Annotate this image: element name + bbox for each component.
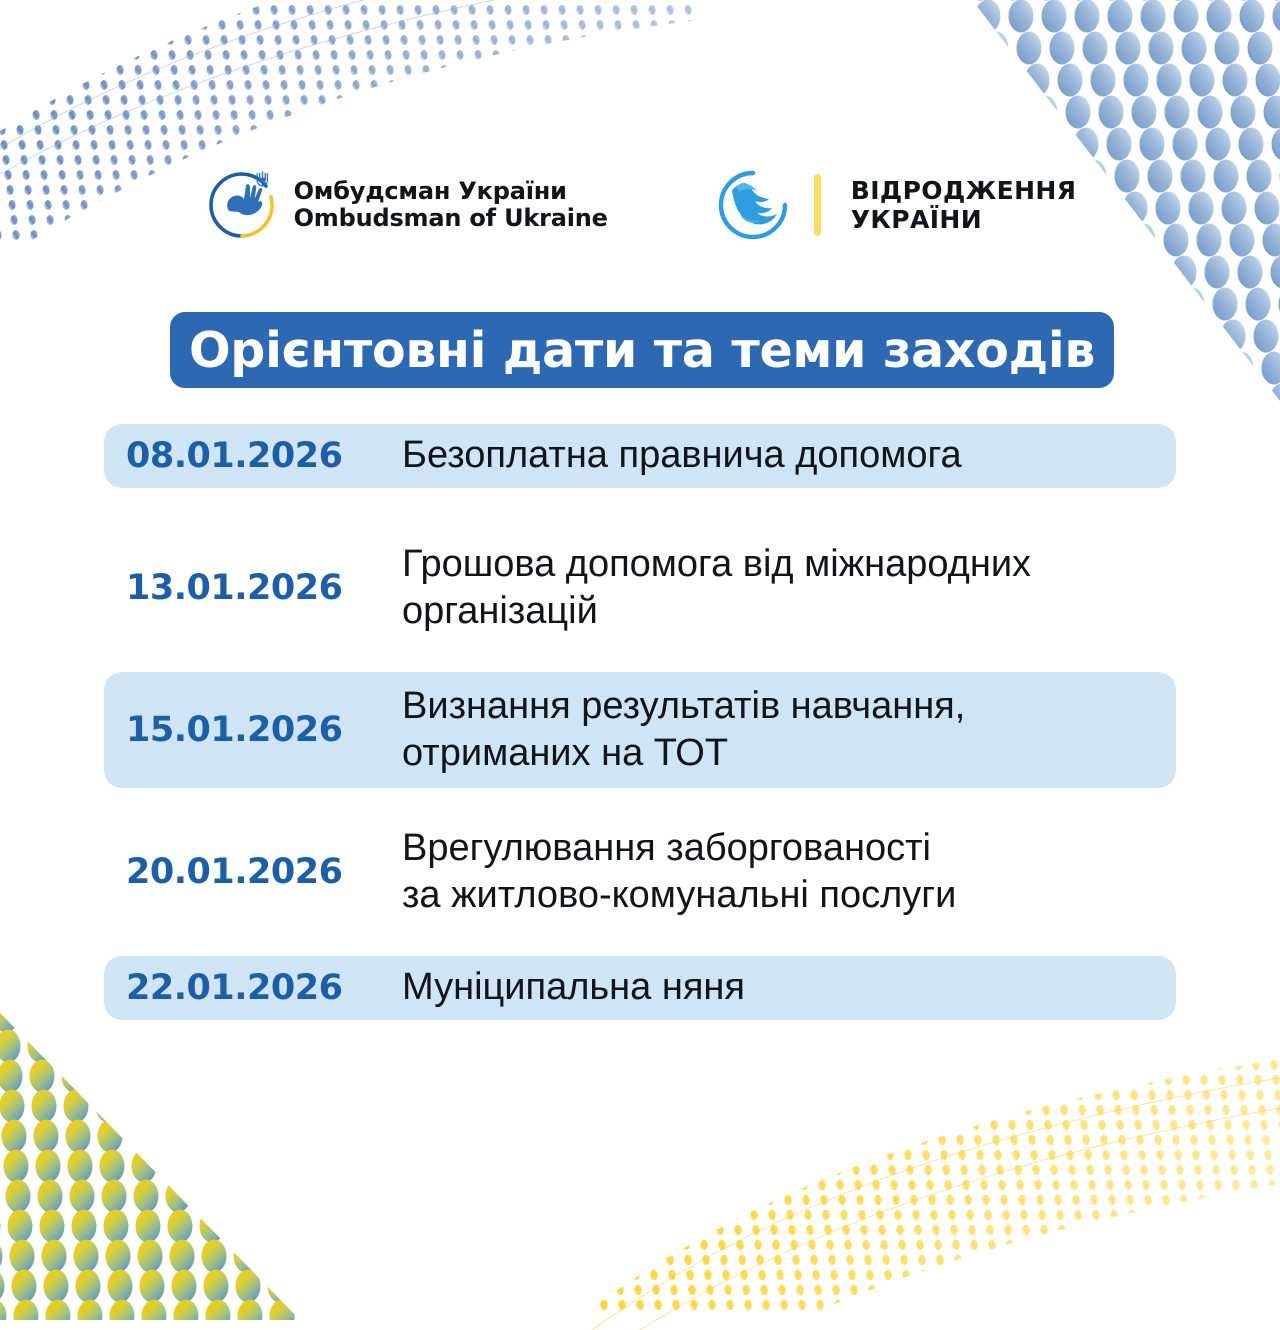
schedule-row-date: 08.01.2026 [126, 436, 402, 476]
page-title-banner: Орієнтовні дати та теми заходів [170, 312, 1114, 388]
schedule-list: 08.01.2026Безоплатна правнича допомога13… [104, 424, 1176, 1020]
phoenix-bird-logo [716, 168, 790, 242]
schedule-row-topic: Муніципальна няня [402, 964, 1176, 1011]
ombudsman-dove-hand-logo [204, 167, 280, 243]
schedule-row-date: 13.01.2026 [126, 568, 402, 608]
decoration-bottom-right-yellow-wave [580, 1010, 1280, 1330]
ombudsman-logo-text: Омбудсман України Ombudsman of Ukraine [294, 178, 608, 233]
schedule-row: 08.01.2026Безоплатна правнича допомога [104, 424, 1176, 488]
schedule-row-topic: Визнання результатів навчання, отриманих… [402, 683, 1176, 777]
ombudsman-logo-block: Омбудсман України Ombudsman of Ukraine [204, 167, 608, 243]
ombudsman-name-uk: Омбудсман України [294, 178, 608, 205]
schedule-row: 15.01.2026Визнання результатів навчання,… [104, 672, 1176, 788]
schedule-row-topic: Безоплатна правнича допомога [402, 432, 1176, 479]
schedule-row: 22.01.2026Муніципальна няня [104, 956, 1176, 1020]
revival-logo-text: ВІДРОДЖЕННЯ УКРАЇНИ [851, 176, 1077, 235]
schedule-row-topic: Врегулювання заборгованості за житлово-к… [402, 825, 1176, 919]
ombudsman-name-en: Ombudsman of Ukraine [294, 205, 608, 232]
header-logos: Омбудсман України Ombudsman of Ukraine В… [0, 160, 1280, 250]
schedule-row-topic: Грошова допомога від міжнародних організ… [402, 541, 1176, 635]
revival-name-line1: ВІДРОДЖЕННЯ [851, 176, 1077, 206]
schedule-row-date: 20.01.2026 [126, 852, 402, 892]
schedule-row: 20.01.2026Врегулювання заборгованості за… [104, 814, 1176, 930]
revival-name-line2: УКРАЇНИ [851, 205, 1077, 235]
revival-logo-block: ВІДРОДЖЕННЯ УКРАЇНИ [716, 168, 1077, 242]
schedule-row-date: 22.01.2026 [126, 968, 402, 1008]
schedule-row: 13.01.2026Грошова допомога від міжнародн… [104, 530, 1176, 646]
page-title: Орієнтовні дати та теми заходів [189, 322, 1095, 379]
schedule-row-date: 15.01.2026 [126, 710, 402, 750]
logo-divider [814, 174, 821, 236]
